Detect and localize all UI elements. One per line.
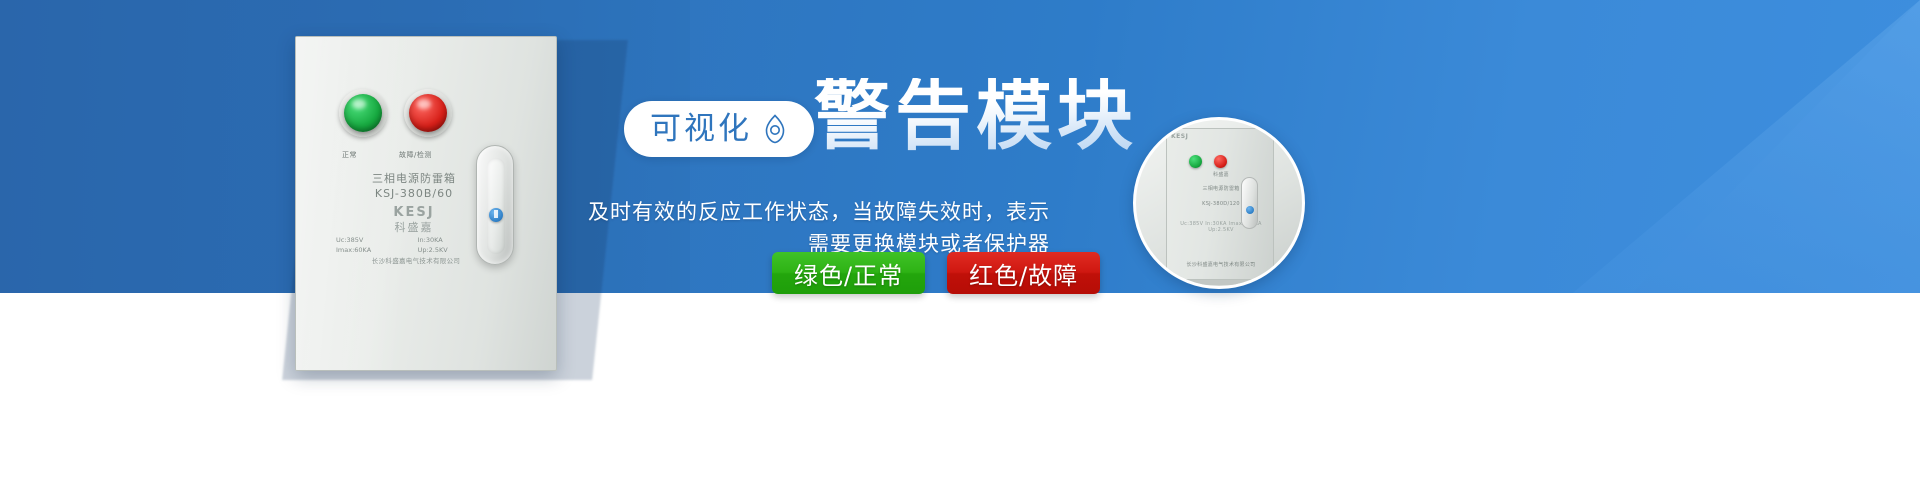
location-pin-icon	[762, 114, 788, 144]
product-inset-circle-image: KESJ 科盛嘉 三相电源防雷箱 KSJ-380D/120 Uc:385V In…	[1133, 117, 1305, 289]
inset-company: 长沙科盛嘉电气技术有限公司	[1167, 261, 1275, 268]
red-indicator-light	[409, 94, 447, 132]
product-cabinet-image: 正常 故障/检测 三相电源防雷箱 KSJ-380B/60 KESJ 科盛嘉 Uc…	[295, 36, 557, 371]
promo-banner: 正常 故障/检测 三相电源防雷箱 KSJ-380B/60 KESJ 科盛嘉 Uc…	[0, 0, 1920, 500]
cabinet-brand-cn: 科盛嘉	[334, 219, 494, 235]
cabinet-switch-inner	[487, 158, 505, 254]
inset-green-indicator-light	[1189, 155, 1202, 168]
cabinet-spec-2: Imax:60KA	[336, 245, 418, 255]
inset-cabinet-switch	[1241, 177, 1258, 229]
status-badge-normal: 绿色/正常	[772, 252, 925, 294]
cabinet-label-normal: 正常	[342, 150, 357, 160]
cabinet-label-fault: 故障/检测	[399, 150, 432, 160]
inset-switch-indicator	[1246, 206, 1254, 214]
page-title: 警告模块	[814, 78, 1138, 154]
cabinet-product-title: 三相电源防雷箱	[334, 170, 494, 186]
inset-brand-cn: 科盛嘉	[1167, 171, 1275, 178]
cabinet-switch-indicator	[489, 208, 503, 222]
green-indicator-light	[344, 94, 382, 132]
inset-model: KSJ-380D/120	[1167, 201, 1275, 207]
pill-label: 可视化	[650, 114, 752, 145]
inset-product-title: 三相电源防雷箱	[1167, 185, 1275, 192]
inset-specs: Uc:385V In:30KA Imax:120KA Up:2.5KV	[1167, 221, 1275, 233]
status-badge-group: 绿色/正常 红色/故障	[772, 252, 1100, 294]
subtitle-line-1: 及时有效的反应工作状态，当故障失效时，表示	[588, 196, 1050, 228]
subtitle: 及时有效的反应工作状态，当故障失效时，表示 需要更换模块或者保护器	[588, 196, 1050, 260]
cabinet-face-highlight	[296, 37, 556, 370]
status-badge-fault: 红色/故障	[947, 252, 1100, 294]
inset-cabinet: KESJ 科盛嘉 三相电源防雷箱 KSJ-380D/120 Uc:385V In…	[1166, 128, 1274, 280]
cabinet-model: KSJ-380B/60	[334, 187, 494, 200]
cabinet-brand-en: KESJ	[334, 205, 494, 220]
cabinet-switch	[476, 145, 514, 265]
inset-red-indicator-light	[1214, 155, 1227, 168]
inset-brand-en: KESJ	[1171, 133, 1188, 140]
cabinet-spec-0: Uc:385V	[336, 235, 418, 245]
visualization-pill-badge: 可视化	[624, 101, 814, 157]
inset-cabinet-base	[1166, 280, 1274, 285]
